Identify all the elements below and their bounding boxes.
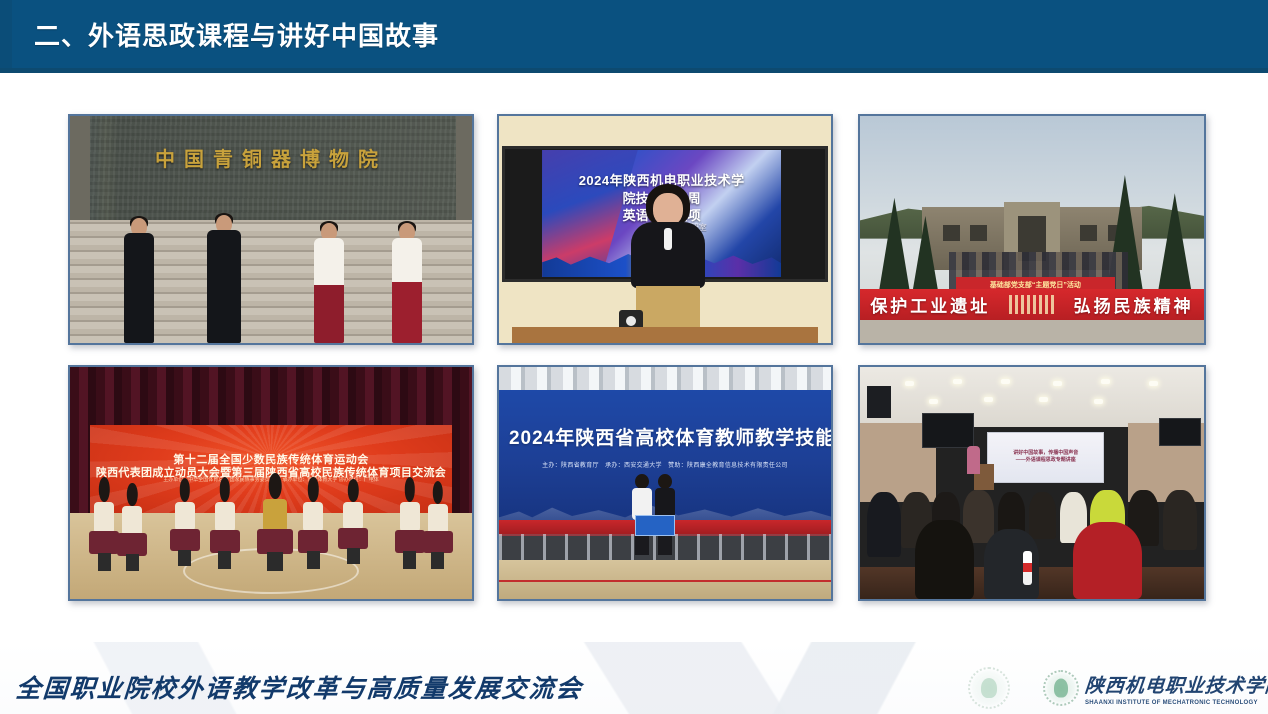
legs (126, 554, 139, 571)
dancer-figure (122, 506, 142, 571)
dancer-figure (94, 502, 114, 572)
head (635, 474, 649, 489)
top (263, 499, 287, 532)
gym-ceiling-windows (499, 367, 831, 393)
dancer-figure (175, 502, 195, 567)
court-line (499, 580, 831, 582)
ceiling-light (953, 379, 962, 384)
presentation-slide: 二、外语思政课程与讲好中国故事 中国青铜器博物院 (0, 0, 1268, 714)
legs (98, 553, 111, 571)
wall-monitor (922, 413, 974, 448)
person-figure (388, 223, 426, 343)
banner-text-left: 保护工业遗址 (870, 292, 990, 317)
photo-lecture-hall[interactable]: 讲好中国故事，传播中国声音 ——外语课程思政专题讲座 (858, 365, 1206, 601)
photo-pe-teaching-contest[interactable]: 2024年陕西省高校体育教师教学技能大赛 主办：陕西省教育厅 承办：西安交通大学… (497, 365, 833, 601)
ground-plaza (860, 320, 1204, 343)
hall-ceiling (860, 367, 1204, 427)
ceiling-light (1149, 381, 1158, 386)
head (269, 473, 282, 499)
ceiling-light (984, 397, 993, 402)
person-figure (655, 474, 675, 555)
legs (403, 551, 416, 568)
audience-foreground (915, 520, 973, 599)
photo-bronze-museum-canvas: 中国青铜器博物院 (70, 116, 472, 343)
top (94, 502, 114, 534)
skirt (89, 531, 119, 555)
wall-pillar-right (456, 116, 472, 220)
ceiling-light (1101, 379, 1110, 384)
backdrop-subtitle: 主办：陕西省教育厅 承办：西安交通大学 赞助：陕西康全教育信息技术有限责任公司 (532, 460, 798, 469)
skirt (395, 530, 425, 553)
hanfu-white-red (392, 238, 422, 343)
header-left-accent (0, 0, 12, 73)
audience-head (1029, 492, 1057, 538)
dancer-figure (303, 502, 323, 569)
photo-ethnic-sports-games-canvas: 第十二届全国少数民族传统体育运动会 陕西代表团成立动员大会暨第三届陕西省高校民族… (70, 367, 472, 599)
gym-floor (499, 560, 831, 599)
top (215, 502, 235, 533)
banner-center-emblem (1009, 295, 1054, 315)
person-figure (120, 218, 158, 343)
backdrop-title: 2024年陕西省高校体育教师教学技能大赛 (509, 423, 821, 450)
hanfu-white-red (314, 238, 344, 343)
projection-screen: 讲好中国故事，传播中国声音 ——外语课程思政专题讲座 (987, 432, 1104, 483)
photo-pe-teaching-contest-canvas: 2024年陕西省高校体育教师教学技能大赛 主办：陕西省教育厅 承办：西安交通大学… (499, 367, 831, 599)
top (175, 502, 195, 532)
top (400, 502, 420, 533)
skirt (170, 529, 200, 551)
window (970, 225, 987, 241)
photo-lecture-hall-canvas: 讲好中国故事，传播中国声音 ——外语课程思政专题讲座 (860, 367, 1204, 599)
photo-grid: 中国青铜器博物院 (68, 114, 1206, 601)
legs (347, 548, 360, 564)
ceiling-light (1001, 379, 1010, 384)
photo-ethnic-sports-games[interactable]: 第十二届全国少数民族传统体育运动会 陕西代表团成立动员大会暨第三届陕西省高校民族… (68, 365, 474, 601)
conference-seal-icon (968, 667, 1010, 709)
dancer-figure (263, 499, 287, 571)
audience-foreground (1073, 522, 1142, 599)
banner-text-right: 弘扬民族精神 (1074, 292, 1194, 317)
audience-head (1163, 490, 1197, 550)
dancer-figure (215, 502, 235, 569)
ceiling-light (905, 381, 914, 386)
screen-text-line-2: ——外语课程思政专题讲座 (995, 456, 1096, 463)
skirt (423, 531, 453, 553)
footer-conference-title: 全国职业院校外语教学改革与高质量发展交流会 (15, 669, 584, 703)
microphone (664, 228, 672, 250)
dancer-figure (343, 502, 363, 565)
institution-logo: 陕西机电职业技术学院 SHAANXI INSTITUTE OF MECHATRO… (1043, 666, 1258, 710)
person-figure (310, 223, 348, 343)
top (122, 506, 142, 536)
legs (431, 552, 444, 569)
legs (178, 550, 191, 567)
skirt (298, 530, 328, 553)
ceiling-light (1039, 397, 1048, 402)
header-underline (0, 68, 1268, 73)
screen-text-line-1: 讲好中国故事，传播中国声音 (995, 449, 1096, 456)
robe-dark (207, 230, 241, 343)
skirt (117, 533, 147, 555)
institution-logo-text: 陕西机电职业技术学院 SHAANXI INSTITUTE OF MECHATRO… (1085, 671, 1268, 706)
legs (307, 551, 320, 568)
top (303, 502, 323, 533)
window (1080, 225, 1097, 241)
award-placard (635, 515, 675, 536)
dancer-figure (400, 502, 420, 569)
wall-speaker (867, 386, 891, 418)
wall-monitor (1159, 418, 1200, 446)
banner-main: 保护工业遗址 弘扬民族精神 (860, 289, 1204, 321)
legs (218, 551, 231, 568)
audience-head (867, 492, 901, 557)
robe-dark (124, 233, 154, 343)
person-figure (203, 215, 245, 343)
head (658, 474, 672, 489)
slide-title: 二、外语思政课程与讲好中国故事 (34, 19, 439, 53)
skirt (210, 530, 240, 553)
photo-party-day-activity-canvas: 基础部党支部“主题党日”活动 保护工业遗址 弘扬民族精神 (860, 116, 1204, 343)
photo-bronze-museum[interactable]: 中国青铜器博物院 (68, 114, 474, 345)
window (943, 225, 960, 241)
institution-name-en: SHAANXI INSTITUTE OF MECHATRONIC TECHNOL… (1085, 700, 1268, 706)
institution-name-cn: 陕西机电职业技术学院 (1084, 671, 1268, 698)
photo-party-day-activity[interactable]: 基础部党支部“主题党日”活动 保护工业遗址 弘扬民族精神 (858, 114, 1206, 345)
museum-signage-text: 中国青铜器博物院 (130, 143, 411, 172)
skirt (257, 529, 293, 553)
ceiling-light (1053, 381, 1062, 386)
water-bottle (1023, 551, 1032, 585)
ceiling-light (1094, 399, 1103, 404)
dancer-figure (428, 504, 448, 569)
person-figure (632, 474, 652, 555)
legs (267, 552, 282, 571)
front-desk (512, 327, 817, 343)
ceiling-light (929, 399, 938, 404)
wall-pillar-left (70, 116, 90, 220)
speaker-figure (642, 184, 695, 325)
photo-english-skills-week[interactable]: 2024年陕西机电职业技术学 院技能展示周 英语口语赛项 基础部英语教研室 (497, 114, 833, 345)
presenter-figure (967, 446, 981, 474)
beige-skirt (636, 286, 700, 330)
institution-seal-icon (1043, 670, 1079, 706)
photo-english-skills-week-canvas: 2024年陕西机电职业技术学 院技能展示周 英语口语赛项 基础部英语教研室 (499, 116, 831, 343)
top (343, 502, 363, 531)
skirt (338, 528, 368, 549)
top (428, 504, 448, 534)
